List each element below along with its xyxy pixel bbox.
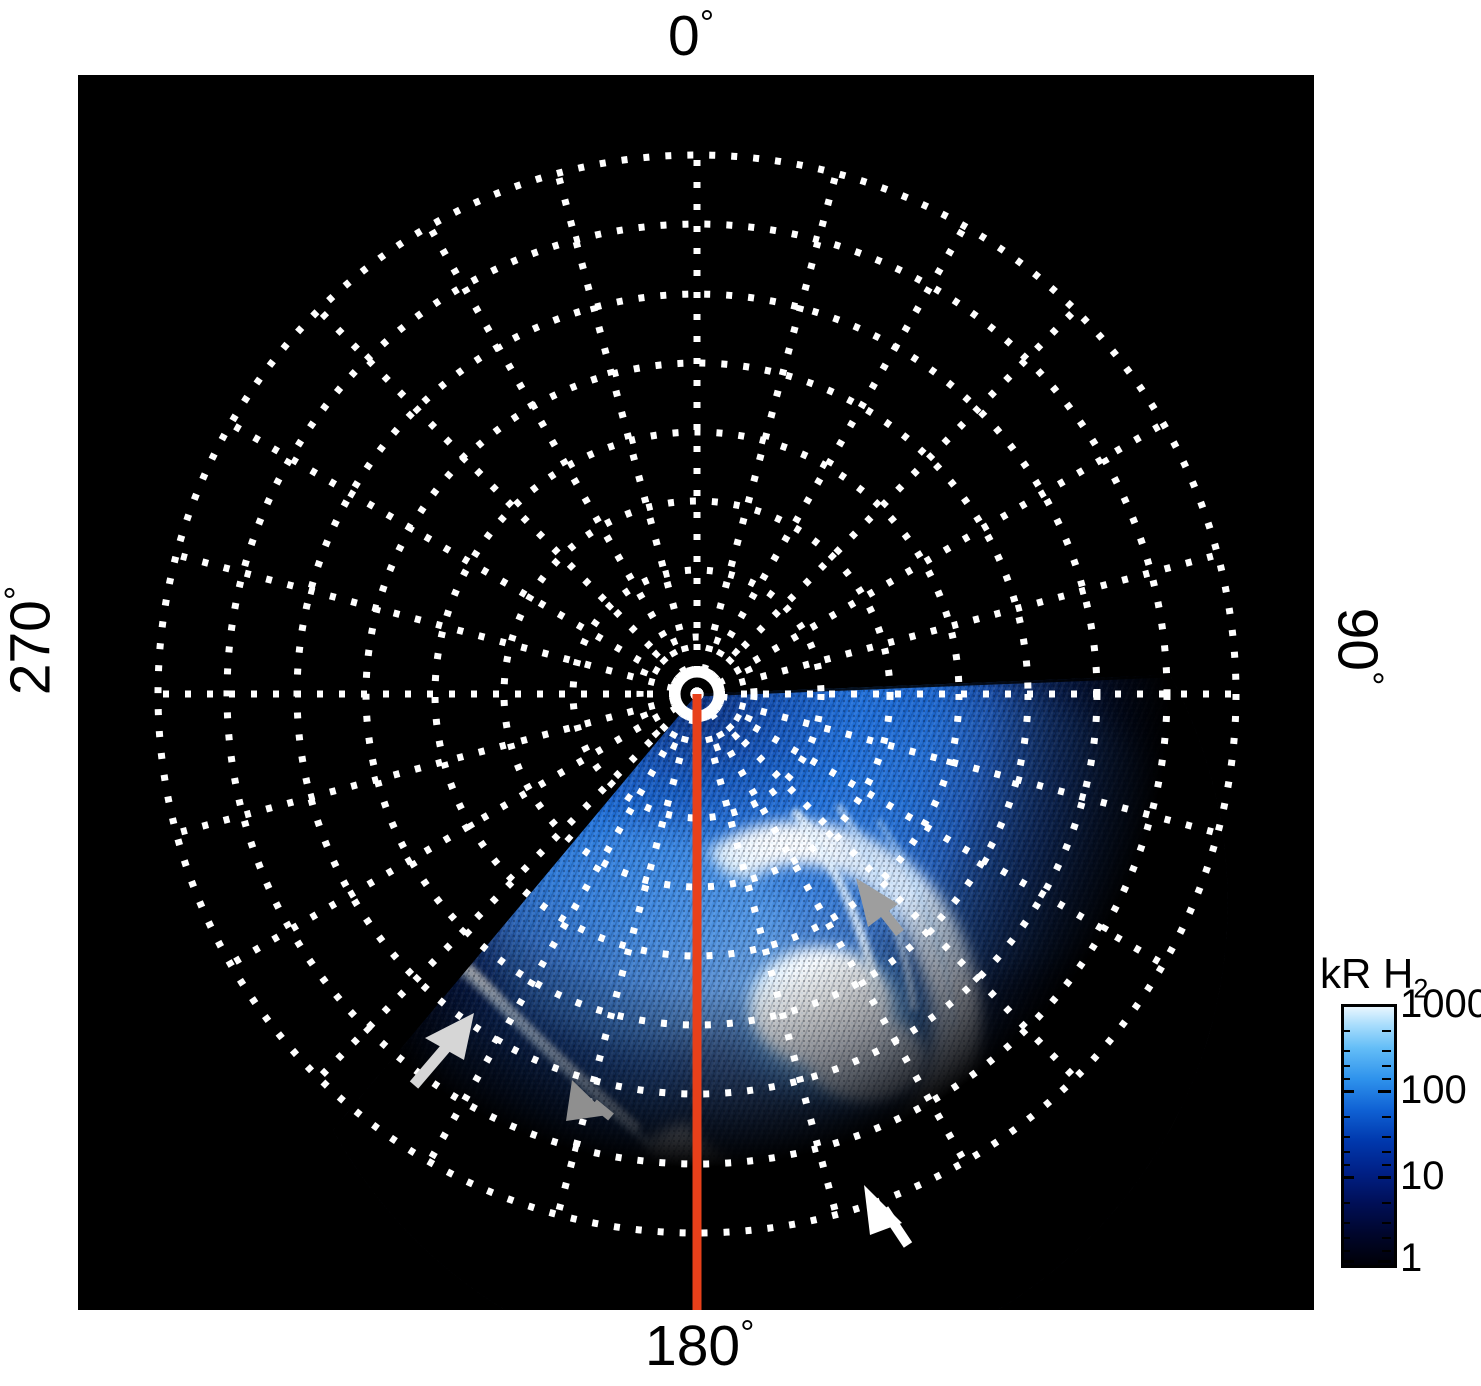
colorbar-tick-label-1: 1 — [1400, 1238, 1422, 1278]
annotation-arrows — [78, 75, 1314, 1310]
polar-aurora-figure: 0° 180° 270° 90° kR H2 1000 — [0, 0, 1481, 1386]
polar-plot-area — [78, 75, 1314, 1310]
axis-label-0deg: 0° — [668, 8, 714, 65]
colorbar-tick-label-1000: 1000 — [1400, 984, 1481, 1024]
colorbar-group: kR H2 1000 100 10 1 — [1316, 950, 1481, 1325]
gray-arrow-upper-icon — [856, 878, 900, 933]
white-arrow-left-icon — [414, 1013, 474, 1085]
colorbar-tick-label-100: 100 — [1400, 1070, 1467, 1110]
colorbar-tick-label-10: 10 — [1400, 1156, 1445, 1196]
axis-label-180deg: 180° — [645, 1318, 755, 1375]
white-arrow-lower-icon — [864, 1185, 908, 1245]
gray-arrow-lower-icon — [566, 1080, 611, 1121]
colorbar-ticks — [1341, 1004, 1391, 1262]
axis-label-270deg: 270° — [2, 586, 59, 696]
axis-label-90deg: 90° — [1328, 608, 1385, 686]
